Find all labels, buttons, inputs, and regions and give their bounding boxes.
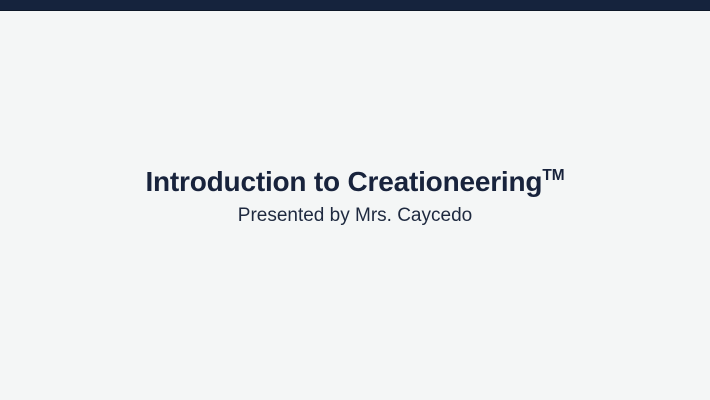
slide-title: Introduction to CreationeeringTM <box>0 166 710 198</box>
title-block: Introduction to CreationeeringTM Present… <box>0 166 710 228</box>
slide-subtitle: Presented by Mrs. Caycedo <box>0 204 710 228</box>
slide-title-text: Introduction to Creationeering <box>145 166 542 197</box>
slide-canvas: Introduction to CreationeeringTM Present… <box>0 11 710 400</box>
top-accent-bar <box>0 0 710 11</box>
trademark-superscript: TM <box>542 167 564 184</box>
presentation-slide: Introduction to CreationeeringTM Present… <box>0 0 710 400</box>
